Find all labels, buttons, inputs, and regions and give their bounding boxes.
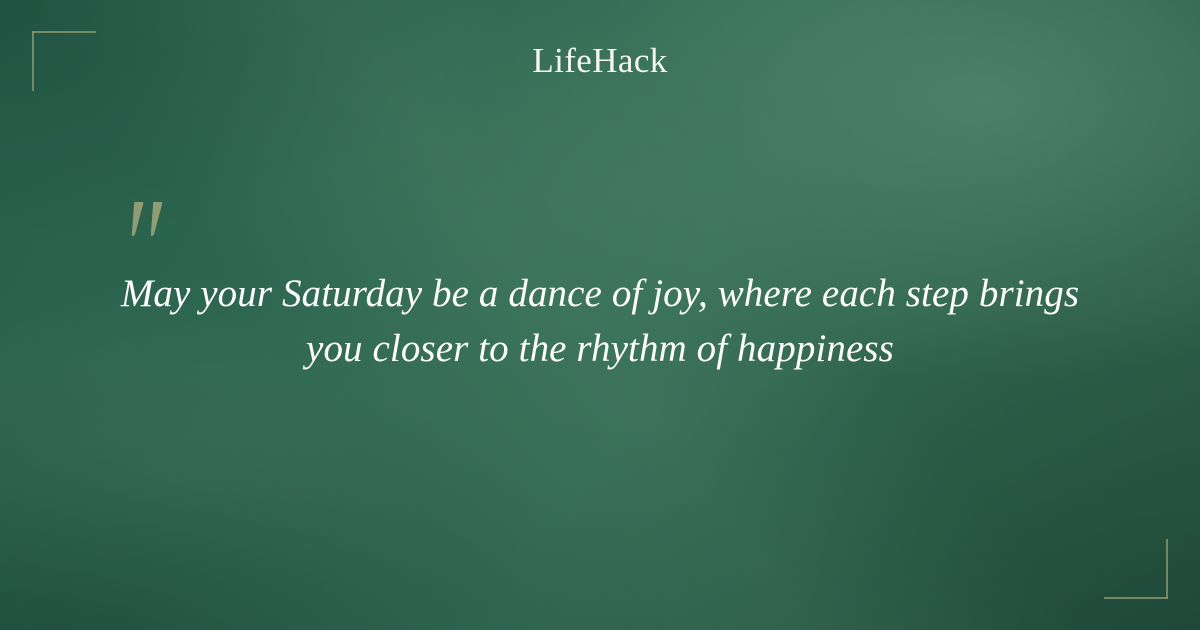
brand-logo: LifeHack <box>0 40 1200 82</box>
quote-mark-icon <box>128 186 184 242</box>
corner-bracket-bottom-right-icon <box>1104 539 1168 599</box>
corner-bracket-horizontal-line <box>32 31 96 33</box>
quote-line-1: May your Saturday be a dance of joy, whe… <box>90 266 1110 321</box>
quote-mark-stroke-right <box>146 202 162 236</box>
quote-text: May your Saturday be a dance of joy, whe… <box>90 266 1110 376</box>
corner-bracket-horizontal-line <box>1104 597 1168 599</box>
quote-mark-stroke-left <box>127 202 143 236</box>
quote-line-2: you closer to the rhythm of happiness <box>90 321 1110 376</box>
corner-bracket-vertical-line <box>1166 539 1168 599</box>
quote-card: LifeHack May your Saturday be a dance of… <box>0 0 1200 630</box>
